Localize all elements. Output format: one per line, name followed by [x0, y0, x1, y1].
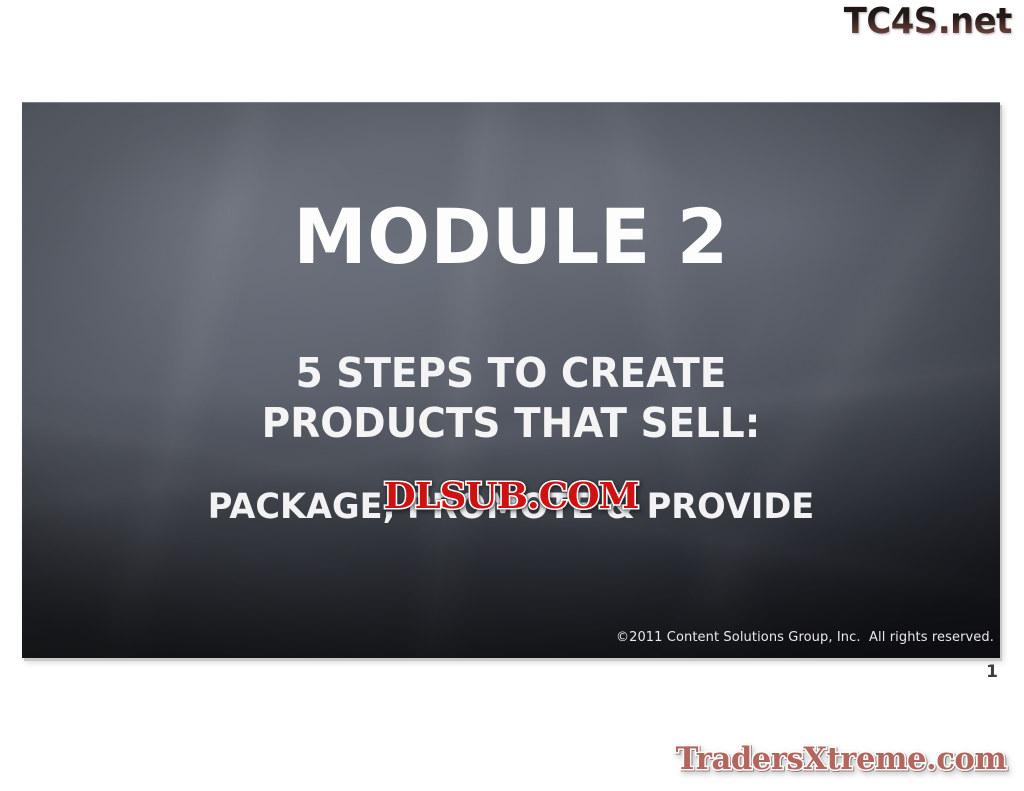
- slide-container: MODULE 2 5 STEPS TO CREATE PRODUCTS THAT…: [22, 102, 1000, 658]
- slide-content: MODULE 2 5 STEPS TO CREATE PRODUCTS THAT…: [22, 103, 1000, 658]
- tc4s-site-logo: TC4S.net: [844, 2, 1012, 42]
- slide-title: MODULE 2: [37, 197, 986, 277]
- dlsub-watermark-text: DLSUB.COM: [383, 478, 638, 517]
- presentation-slide: MODULE 2 5 STEPS TO CREATE PRODUCTS THAT…: [22, 102, 1000, 658]
- dlsub-watermark: DLSUB.COM: [391, 478, 632, 516]
- slide-subtitle-line-2: PRODUCTS THAT SELL:: [84, 398, 937, 448]
- tradersxtreme-brand-logo: TradersXtreme.com: [676, 741, 1007, 777]
- slide-subtitle-line-1: 5 STEPS TO CREATE: [84, 348, 937, 398]
- copyright-notice: ©2011 Content Solutions Group, Inc. All …: [616, 630, 994, 646]
- page-number: 1: [986, 662, 998, 682]
